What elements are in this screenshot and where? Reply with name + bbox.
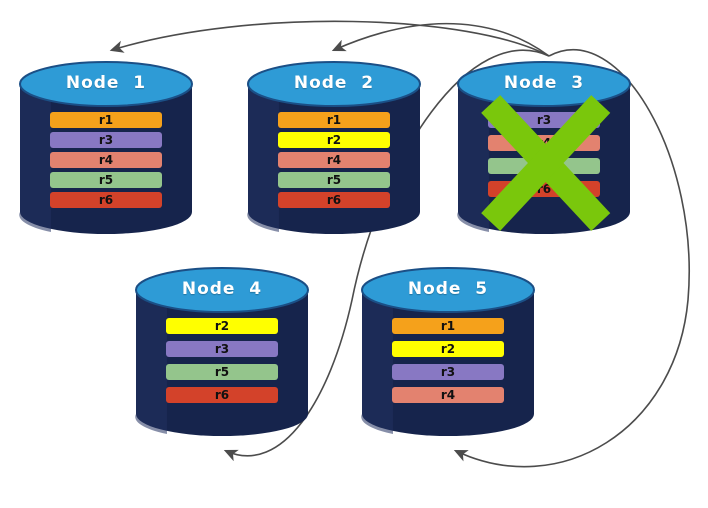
arrow-node3-to-node2: [334, 24, 549, 56]
node-3-label: Node 3: [458, 73, 630, 93]
replica-chip[interactable]: r6: [166, 387, 278, 403]
node-5-label: Node 5: [362, 279, 534, 299]
node-4-body-shading: [135, 290, 167, 434]
node-4[interactable]: Node 4r2r3r5r6: [136, 268, 308, 436]
replica-chip[interactable]: r3: [166, 341, 278, 357]
replica-chip[interactable]: r1: [278, 112, 390, 128]
node-1-label: Node 1: [20, 73, 192, 93]
diagram-canvas: Node 1r1r3r4r5r6Node 2r1r2r4r5r6Node 3r3…: [0, 0, 708, 508]
replica-chip[interactable]: r3: [50, 132, 162, 148]
replica-chip[interactable]: r2: [166, 318, 278, 334]
arrow-node3-to-node1: [112, 21, 549, 56]
node-2-label: Node 2: [248, 73, 420, 93]
replica-chip[interactable]: r2: [392, 341, 504, 357]
replica-chip[interactable]: r2: [278, 132, 390, 148]
node-2[interactable]: Node 2r1r2r4r5r6: [248, 62, 420, 234]
replica-chip[interactable]: r4: [278, 152, 390, 168]
replica-chip[interactable]: r5: [278, 172, 390, 188]
replica-chip[interactable]: r5: [50, 172, 162, 188]
replica-chip[interactable]: r4: [488, 135, 600, 151]
replica-chip[interactable]: r4: [392, 387, 504, 403]
replica-chip[interactable]: r4: [50, 152, 162, 168]
node-3[interactable]: Node 3r3r4r5r6: [458, 62, 630, 234]
replica-chip[interactable]: r6: [50, 192, 162, 208]
node-3-body-shading: [457, 84, 489, 232]
replica-chip[interactable]: r1: [50, 112, 162, 128]
node-5[interactable]: Node 5r1r2r3r4: [362, 268, 534, 436]
node-4-label: Node 4: [136, 279, 308, 299]
node-2-body-shading: [247, 84, 279, 232]
replica-chip[interactable]: r3: [392, 364, 504, 380]
replica-chip[interactable]: r6: [488, 181, 600, 197]
replica-chip[interactable]: r5: [488, 158, 600, 174]
node-5-body-shading: [361, 290, 393, 434]
replica-chip[interactable]: r6: [278, 192, 390, 208]
replica-chip[interactable]: r1: [392, 318, 504, 334]
node-1-body-shading: [19, 84, 51, 232]
replica-chip[interactable]: r3: [488, 112, 600, 128]
node-1[interactable]: Node 1r1r3r4r5r6: [20, 62, 192, 234]
replica-chip[interactable]: r5: [166, 364, 278, 380]
